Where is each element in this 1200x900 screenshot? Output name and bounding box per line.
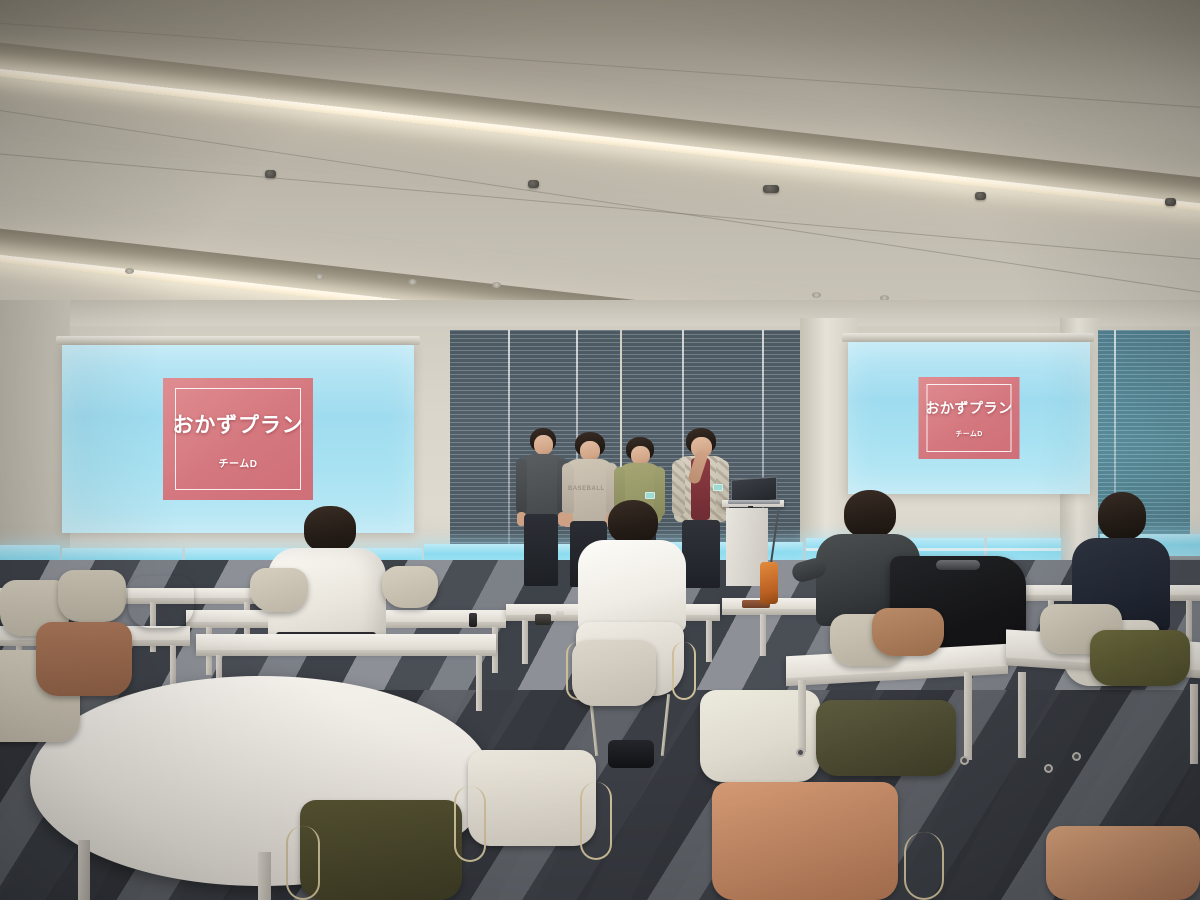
oval-table-leg [78,840,90,900]
chair-terracotta-foreground[interactable] [1046,826,1200,900]
name-badge [645,492,655,499]
table-item-drink-cup[interactable] [760,562,778,604]
oval-table-leg [258,852,271,900]
table-leg [706,620,712,662]
table-leg [522,620,528,664]
table-leg [760,614,766,656]
chair-brown-foreground[interactable] [36,622,132,696]
sprinkler-head [975,192,986,200]
sprinkler-head [528,180,539,188]
audience-hair [304,506,356,552]
table-caster [796,748,805,757]
table-item-case[interactable] [535,614,551,625]
table-leg [1190,684,1198,764]
table-edge [196,650,496,656]
chair-beige[interactable] [250,568,308,612]
meeting-room-photo: おかずプラン チームD おかずプラン チームD [0,0,1200,900]
presenter-1 [516,428,566,588]
sprinkler-head [1165,198,1176,206]
slide-card: おかずプラン チームD [919,377,1020,459]
table-leg [476,655,482,711]
recessed-downlight [125,268,134,274]
projected-slide-left: おかずプラン チームD [62,345,414,533]
slide-subtitle: チームD [219,455,258,470]
ceiling [0,0,1200,330]
slide-card: おかずプラン チームD [163,378,313,500]
slide-inner-border [927,384,1012,453]
chair-beige[interactable] [382,566,438,608]
bag-handle [936,560,980,570]
screen-roller [56,336,420,345]
chair-arm [580,782,612,860]
audience-tshirt [578,540,686,632]
chair-dark-olive-right[interactable] [816,700,956,776]
table-leg [964,672,972,760]
audience-shoe [608,740,654,768]
name-badge [713,484,723,491]
audience-hair [1098,492,1146,540]
chair-arm [286,826,320,900]
slide-subtitle: チームD [955,429,982,439]
blind-cord [508,330,510,570]
slide-title: おかずプラン [172,409,303,439]
screen-roller [842,333,1094,342]
projection-screen-right: おかずプラン チームD [848,342,1090,494]
ceiling-speaker [763,185,779,193]
chair-beige[interactable] [58,570,126,622]
table-caster [960,756,969,765]
chair-brown-right[interactable] [872,608,944,656]
chair-olive-right[interactable] [1090,630,1190,686]
slide-inner-border [175,388,301,491]
presenter-face [534,435,553,455]
audience-hair [608,500,658,544]
table-caster [1072,752,1081,761]
projected-slide-right: おかずプラン チームD [848,342,1090,494]
chair-white[interactable] [572,640,656,706]
table-item-pen[interactable] [556,611,564,621]
slide-title: おかずプラン [925,398,1012,418]
presenter-arm [516,458,527,514]
presenter-pants [682,520,720,588]
projection-screen-left: おかずプラン チームD [62,345,414,533]
chair-arm [904,832,944,900]
presenter-pants [524,514,558,586]
recessed-downlight [492,282,501,288]
audience-hair [844,490,896,538]
chair-olive-foreground[interactable] [300,800,462,900]
sprinkler-head [265,170,276,178]
presenter-face [580,441,600,461]
chair-terracotta-foreground[interactable] [712,782,898,900]
chair-arm [672,642,696,700]
table-leg [798,680,806,752]
table-item-bottle[interactable] [469,613,477,627]
chair-arm [454,786,486,862]
tshirt-graphic-text: BASEBALL [568,486,605,492]
recessed-downlight [315,274,324,280]
chair-terracotta[interactable] [128,576,194,628]
recessed-downlight [812,292,821,298]
wall-soffit [0,300,1200,326]
table-center-front [196,634,496,651]
table-leg [1018,672,1026,758]
table-caster [1044,764,1053,773]
laptop-base[interactable] [728,500,780,504]
chair-white-foreground[interactable] [468,750,596,846]
recessed-downlight [408,279,417,285]
